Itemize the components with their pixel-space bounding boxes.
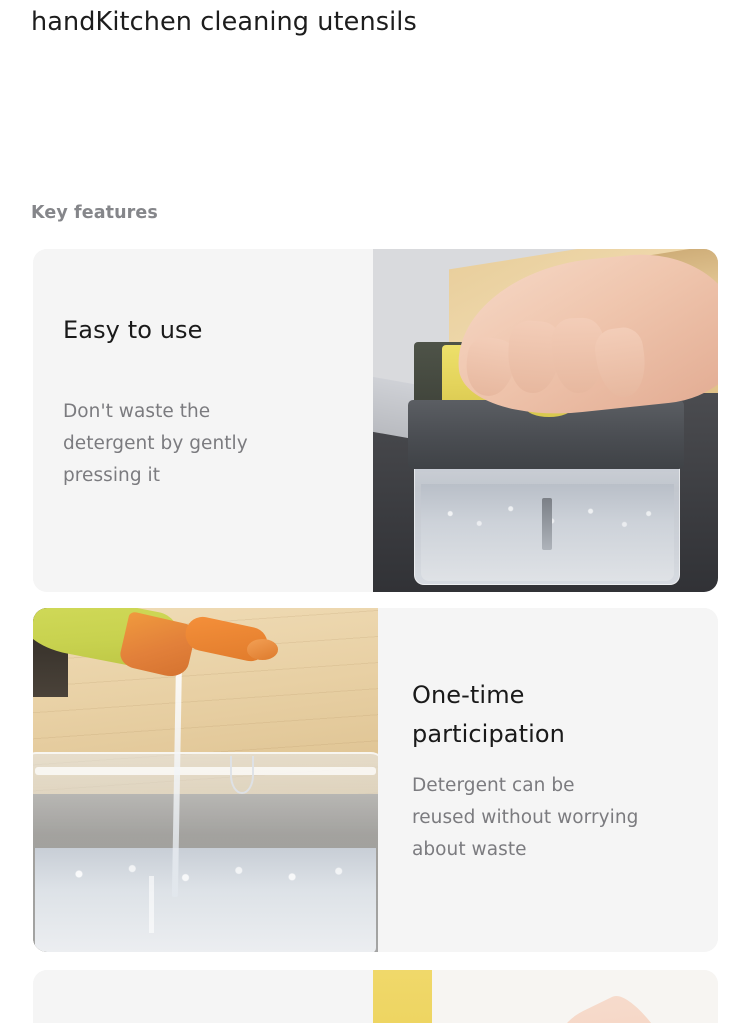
liquid-foam: [39, 856, 373, 892]
tank-rim: [35, 767, 376, 775]
detergent-bottle: [373, 970, 432, 1023]
product-heading: Kitchen sink soap dispenser, press type …: [31, 0, 721, 40]
feature-card: One-time participation Detergent can be …: [33, 608, 718, 952]
feature-description: Detergent can be reused without worrying…: [412, 770, 688, 866]
feature-card-text: [33, 970, 373, 1023]
pump-stem: [542, 498, 553, 550]
feature-card-text: One-time participation Detergent can be …: [378, 608, 718, 952]
nozzle-tip: [247, 639, 278, 660]
key-features-label: Key features: [31, 203, 158, 223]
metal-hook: [230, 756, 254, 794]
dispenser-tank: [33, 752, 378, 952]
feature-card: Easy to use Don't waste the detergent by…: [33, 249, 718, 592]
hand: [498, 983, 718, 1023]
product-detail-page: Kitchen sink soap dispenser, press type …: [0, 0, 750, 1023]
feature-title: One-time participation: [412, 676, 688, 754]
feature-image-hand-pressing-sponge-on-soap-dispenser: [373, 249, 718, 592]
tank-divider: [149, 876, 154, 933]
feature-title: Easy to use: [63, 311, 343, 350]
feature-card: [33, 970, 718, 1023]
feature-card-text: Easy to use Don't waste the detergent by…: [33, 249, 373, 592]
feature-image-pouring-detergent-into-dispenser-tank: [33, 608, 378, 952]
feature-image-detergent-bottle-and-hand: [373, 970, 718, 1023]
feature-description: Don't waste the detergent by gently pres…: [63, 396, 343, 492]
